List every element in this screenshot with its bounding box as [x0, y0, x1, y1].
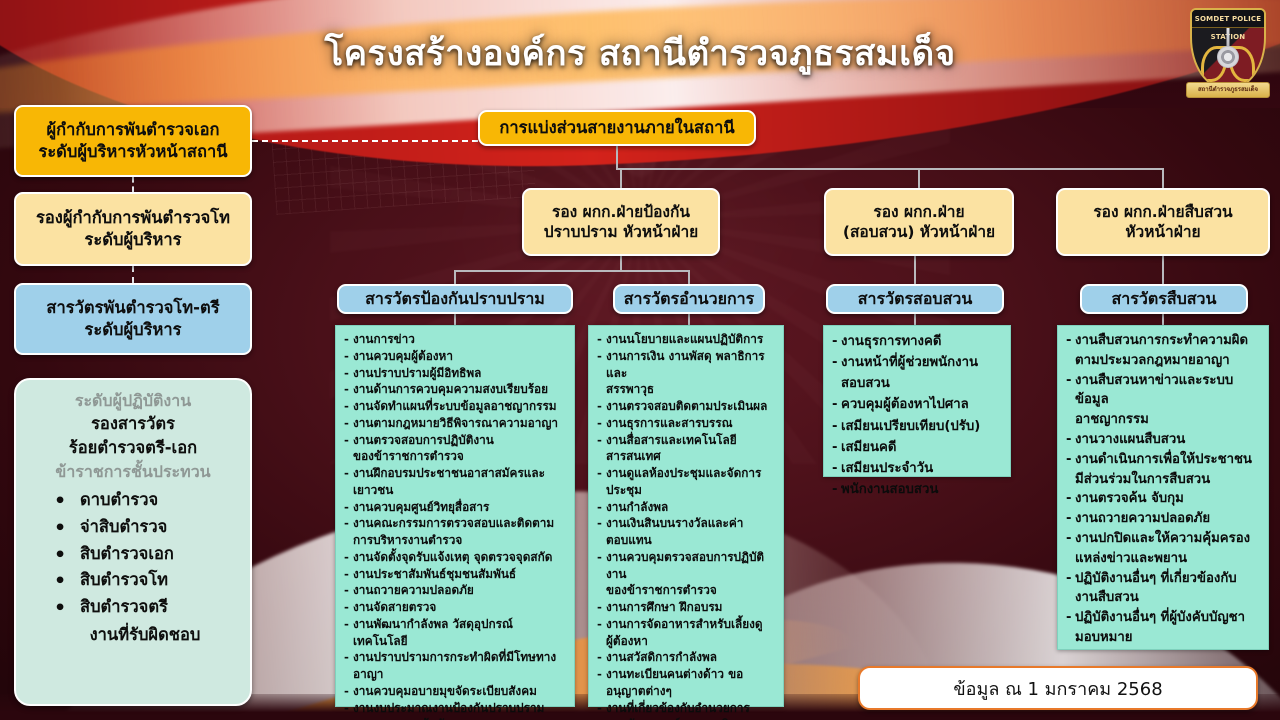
duty-item: งานการศึกษา ฝึกอบรม [597, 599, 776, 616]
deputy-inquiry-line1: รอง ผกก.ฝ่าย [843, 202, 995, 222]
head-administration[interactable]: สารวัตรอำนวยการ [613, 284, 765, 314]
duty-item: งานควบคุมศูนย์วิทยุสื่อสาร [344, 499, 567, 516]
connector-to-deputy-investigation [1162, 168, 1164, 188]
police-shield-logo: SOMDET POLICE STATION สถานีตำรวจภูธรสมเด… [1182, 2, 1274, 102]
head-administration-label: สารวัตรอำนวยการ [624, 288, 754, 309]
connector-chief-to-divisions [252, 140, 478, 142]
logo-banner-text: สถานีตำรวจภูธรสมเด็จ [1187, 83, 1269, 97]
duty-item: งานตรวจสอบการปฏิบัติงาน ของข้าราชการตำรว… [344, 432, 567, 466]
connector-prevention-split [454, 270, 690, 272]
node-divisions[interactable]: การแบ่งส่วนสายงานภายในสถานี [478, 110, 756, 146]
shield-top-band: SOMDET POLICE STATION [1192, 10, 1264, 28]
duty-item: งานสื่อสารและเทคโนโลยีสารสนเทศ [597, 432, 776, 466]
connector-to-deputy-prevention [620, 168, 622, 188]
duty-item: เสมียนประจำวัน [832, 458, 1003, 479]
data-as-of-label: ข้อมูล ณ 1 มกราคม 2568 [953, 674, 1162, 703]
duty-item: งานการเงิน งานพัสดุ พลาธิการและ สรรพาวุธ [597, 348, 776, 398]
investigation-duty-list: งานสืบสวนการกระทำความผิด ตามประมวลกฎหมาย… [1066, 331, 1261, 648]
duty-item: งานสืบสวนการกระทำความผิด ตามประมวลกฎหมาย… [1066, 331, 1261, 371]
page-title: โครงสร้างองค์กร สถานีตำรวจภูธรสมเด็จ [0, 26, 1280, 82]
connector-to-head-admin [688, 270, 690, 284]
duty-item: งานวางแผนสืบสวน [1066, 430, 1261, 450]
deputy-prevention-line1: รอง ผกก.ฝ่ายป้องกัน [544, 202, 699, 222]
duty-item: งานงบประมาณงานป้องกันปราบปราม [344, 700, 567, 717]
connector-prevention-stem [620, 256, 622, 270]
duty-item: งานจัดสายตรวจ [344, 599, 567, 616]
connector-divisions-stem [616, 146, 618, 168]
rank-item: จ่าสิบตำรวจ [54, 514, 240, 541]
deputy-investigation-line2: หัวหน้าฝ่าย [1093, 222, 1232, 242]
node-chief[interactable]: ผู้กำกับการพันตำรวจเอก ระดับผู้บริหารหัว… [14, 105, 252, 177]
duty-item: งานปราบปรามการกระทำผิดที่มีโทษทางอาญา [344, 649, 567, 683]
duty-item: งานพัฒนากำลังพล วัสดุอุปกรณ์เทคโนโลยี [344, 616, 567, 650]
rank-item: สิบตำรวจเอก [54, 541, 240, 568]
operational-sub1: รองสารวัตร [26, 412, 240, 436]
duty-item: งานถวายความปลอดภัย [1066, 509, 1261, 529]
duty-item: งานจัดตั้งจุดรับแจ้งเหตุ จุดตรวจจุดสกัด [344, 549, 567, 566]
panel-investigation-duties: งานสืบสวนการกระทำความผิด ตามประมวลกฎหมาย… [1057, 325, 1269, 650]
duty-item: พนักงานสอบสวน [832, 479, 1003, 500]
connector-deputy-bus [616, 168, 1163, 170]
duty-item: งานถวายความปลอดภัย [344, 582, 567, 599]
head-prevention-label: สารวัตรป้องกันปราบปราม [365, 288, 545, 309]
duty-item: งานควบคุมตรวจสอบการปฏิบัติงาน ของข้าราชก… [597, 549, 776, 599]
rank-item: ดาบตำรวจ [54, 487, 240, 514]
node-deputy-prevention[interactable]: รอง ผกก.ฝ่ายป้องกัน ปราบปราม หัวหน้าฝ่าย [522, 188, 720, 256]
deputy-prevention-line2: ปราบปราม หัวหน้าฝ่าย [544, 222, 699, 242]
duty-item: งานตรวจสอบติดตามประเมินผล [597, 398, 776, 415]
rank-item: สิบตำรวจโท [54, 567, 240, 594]
node-inspector[interactable]: สารวัตรพันตำรวจโท-ตรี ระดับผู้บริหาร [14, 283, 252, 355]
duty-item: งานที่เกี่ยวข้องกับอำนวยการ [597, 700, 776, 717]
duty-item: งานคณะกรรมการตรวจสอบและติดตาม การบริหารง… [344, 515, 567, 549]
panel-operational-level: ระดับผู้ปฏิบัติงาน รองสารวัตร ร้อยตำรวจต… [14, 378, 252, 706]
head-inquiry-label: สารวัตรสอบสวน [858, 288, 973, 309]
duty-item: งานการตรวจค้นจับกุม [344, 716, 567, 720]
duty-item: งานฝึกอบรมประชาชนอาสาสมัครและเยาวชน [344, 465, 567, 499]
node-deputy-inquiry[interactable]: รอง ผกก.ฝ่าย (สอบสวน) หัวหน้าฝ่าย [824, 188, 1014, 256]
duty-item: งานหน้าที่ผู้ช่วยพนักงานสอบสวน [832, 352, 1003, 394]
inquiry-duty-list: งานธุรการทางคดีงานหน้าที่ผู้ช่วยพนักงานส… [832, 331, 1003, 500]
node-inspector-line2: ระดับผู้บริหาร [46, 319, 219, 341]
head-investigation[interactable]: สารวัตรสืบสวน [1080, 284, 1248, 314]
connector-to-head-prevention [454, 270, 456, 284]
node-deputy-investigation[interactable]: รอง ผกก.ฝ่ายสืบสวน หัวหน้าฝ่าย [1056, 188, 1270, 256]
panel-administration-duties: งานนโยบายและแผนปฏิบัติการงานการเงิน งานพ… [588, 325, 784, 707]
operational-tail: งานที่รับผิดชอบ [26, 622, 240, 648]
duty-item: งานควบคุมอบายมุขจัดระเบียบสังคม [344, 683, 567, 700]
duty-item: งานนโยบายและแผนปฏิบัติการ [597, 331, 776, 348]
duty-item: งานสืบสวนหาข่าวและระบบข้อมูล อาชญากรรม [1066, 371, 1261, 430]
data-as-of-box: ข้อมูล ณ 1 มกราคม 2568 [858, 666, 1258, 710]
duty-item: งานกำลังพล [597, 499, 776, 516]
duty-item: งานตรวจค้น จับกุม [1066, 489, 1261, 509]
panel-inquiry-duties: งานธุรการทางคดีงานหน้าที่ผู้ช่วยพนักงานส… [823, 325, 1011, 477]
duty-item: งานประชาสัมพันธ์ชุมชนสัมพันธ์ [344, 566, 567, 583]
duty-item: งานการข่าว [344, 331, 567, 348]
shield-icon: SOMDET POLICE STATION [1190, 8, 1266, 90]
panel-prevention-duties: งานการข่าวงานควบคุมผู้ต้องหางานปราบปรามผ… [335, 325, 575, 707]
operational-level-label: ระดับผู้ปฏิบัติงาน [26, 389, 240, 412]
prevention-duty-list: งานการข่าวงานควบคุมผู้ต้องหางานปราบปรามผ… [344, 331, 567, 720]
connector-deputy-to-inspector [132, 266, 134, 283]
node-chief-line2: ระดับผู้บริหารหัวหน้าสถานี [38, 141, 227, 163]
operational-sub2: ร้อยตำรวจตรี-เอก [26, 436, 240, 460]
duty-item: ปฏิบัติงานอื่นๆ ที่เกี่ยวข้องกับ งานสืบส… [1066, 569, 1261, 609]
logo-banner: สถานีตำรวจภูธรสมเด็จ [1186, 82, 1270, 98]
duty-item: งานจัดทำแผนที่ระบบข้อมูลอาชญากรรม [344, 398, 567, 415]
duty-item: งานทะเบียนคนต่างด้าว ขออนุญาตต่างๆ [597, 666, 776, 700]
rank-item: สิบตำรวจตรี [54, 594, 240, 621]
duty-item: งานดำเนินการเพื่อให้ประชาชน มีส่วนร่วมใน… [1066, 450, 1261, 490]
duty-item: เสมียนคดี [832, 437, 1003, 458]
duty-item: งานด้านการควบคุมความสงบเรียบร้อย [344, 381, 567, 398]
deputy-investigation-line1: รอง ผกก.ฝ่ายสืบสวน [1093, 202, 1232, 222]
node-deputy-line1: รองผู้กำกับการพันตำรวจโท [36, 207, 230, 229]
node-deputy-commander[interactable]: รองผู้กำกับการพันตำรวจโท ระดับผู้บริหาร [14, 192, 252, 266]
duty-item: ปฏิบัติงานอื่นๆ ที่ผู้บังคับบัญชา มอบหมา… [1066, 608, 1261, 648]
deputy-inquiry-line2: (สอบสวน) หัวหน้าฝ่าย [843, 222, 995, 242]
node-deputy-line2: ระดับผู้บริหาร [36, 229, 230, 251]
node-chief-line1: ผู้กำกับการพันตำรวจเอก [38, 119, 227, 141]
duty-item: งานควบคุมผู้ต้องหา [344, 348, 567, 365]
duty-item: งานธุรการทางคดี [832, 331, 1003, 352]
duty-item: งานเงินสินบนรางวัลและค่าตอบแทน [597, 515, 776, 549]
operational-civil-label: ข้าราชการชั้นประทวน [26, 460, 240, 483]
connector-to-head-inquiry [914, 256, 916, 284]
operational-rank-list: ดาบตำรวจจ่าสิบตำรวจสิบตำรวจเอกสิบตำรวจโท… [26, 487, 240, 621]
administration-duty-list: งานนโยบายและแผนปฏิบัติการงานการเงิน งานพ… [597, 331, 776, 720]
duty-item: งานดูแลห้องประชุมและจัดการประชุม [597, 465, 776, 499]
node-inspector-line1: สารวัตรพันตำรวจโท-ตรี [46, 297, 219, 319]
chakra-icon [1217, 46, 1239, 68]
node-divisions-label: การแบ่งส่วนสายงานภายในสถานี [499, 117, 734, 139]
connector-to-deputy-inquiry [918, 168, 920, 188]
duty-item: เสมียนเปรียบเทียบ(ปรับ) [832, 416, 1003, 437]
duty-item: งานสวัสดิการกำลังพล [597, 649, 776, 666]
duty-item: ควบคุมผู้ต้องหาไปศาล [832, 394, 1003, 415]
duty-item: งานปกปิดและให้ความคุ้มครอง แหล่งข่าวและพ… [1066, 529, 1261, 569]
head-investigation-label: สารวัตรสืบสวน [1112, 288, 1217, 309]
duty-item: งานตามกฎหมายวิธีพิจารณาความอาญา [344, 415, 567, 432]
head-prevention[interactable]: สารวัตรป้องกันปราบปราม [337, 284, 573, 314]
head-inquiry[interactable]: สารวัตรสอบสวน [826, 284, 1004, 314]
connector-chief-to-deputy [132, 177, 134, 192]
duty-item: งานพัฒนาองค์กรและบริหารจัดการ [597, 716, 776, 720]
duty-item: งานธุรการและสารบรรณ [597, 415, 776, 432]
duty-item: งานการจัดอาหารสำหรับเลี้ยงดู ผู้ต้องหา [597, 616, 776, 650]
duty-item: งานปราบปรามผู้มีอิทธิพล [344, 365, 567, 382]
connector-to-head-investigation [1162, 256, 1164, 284]
